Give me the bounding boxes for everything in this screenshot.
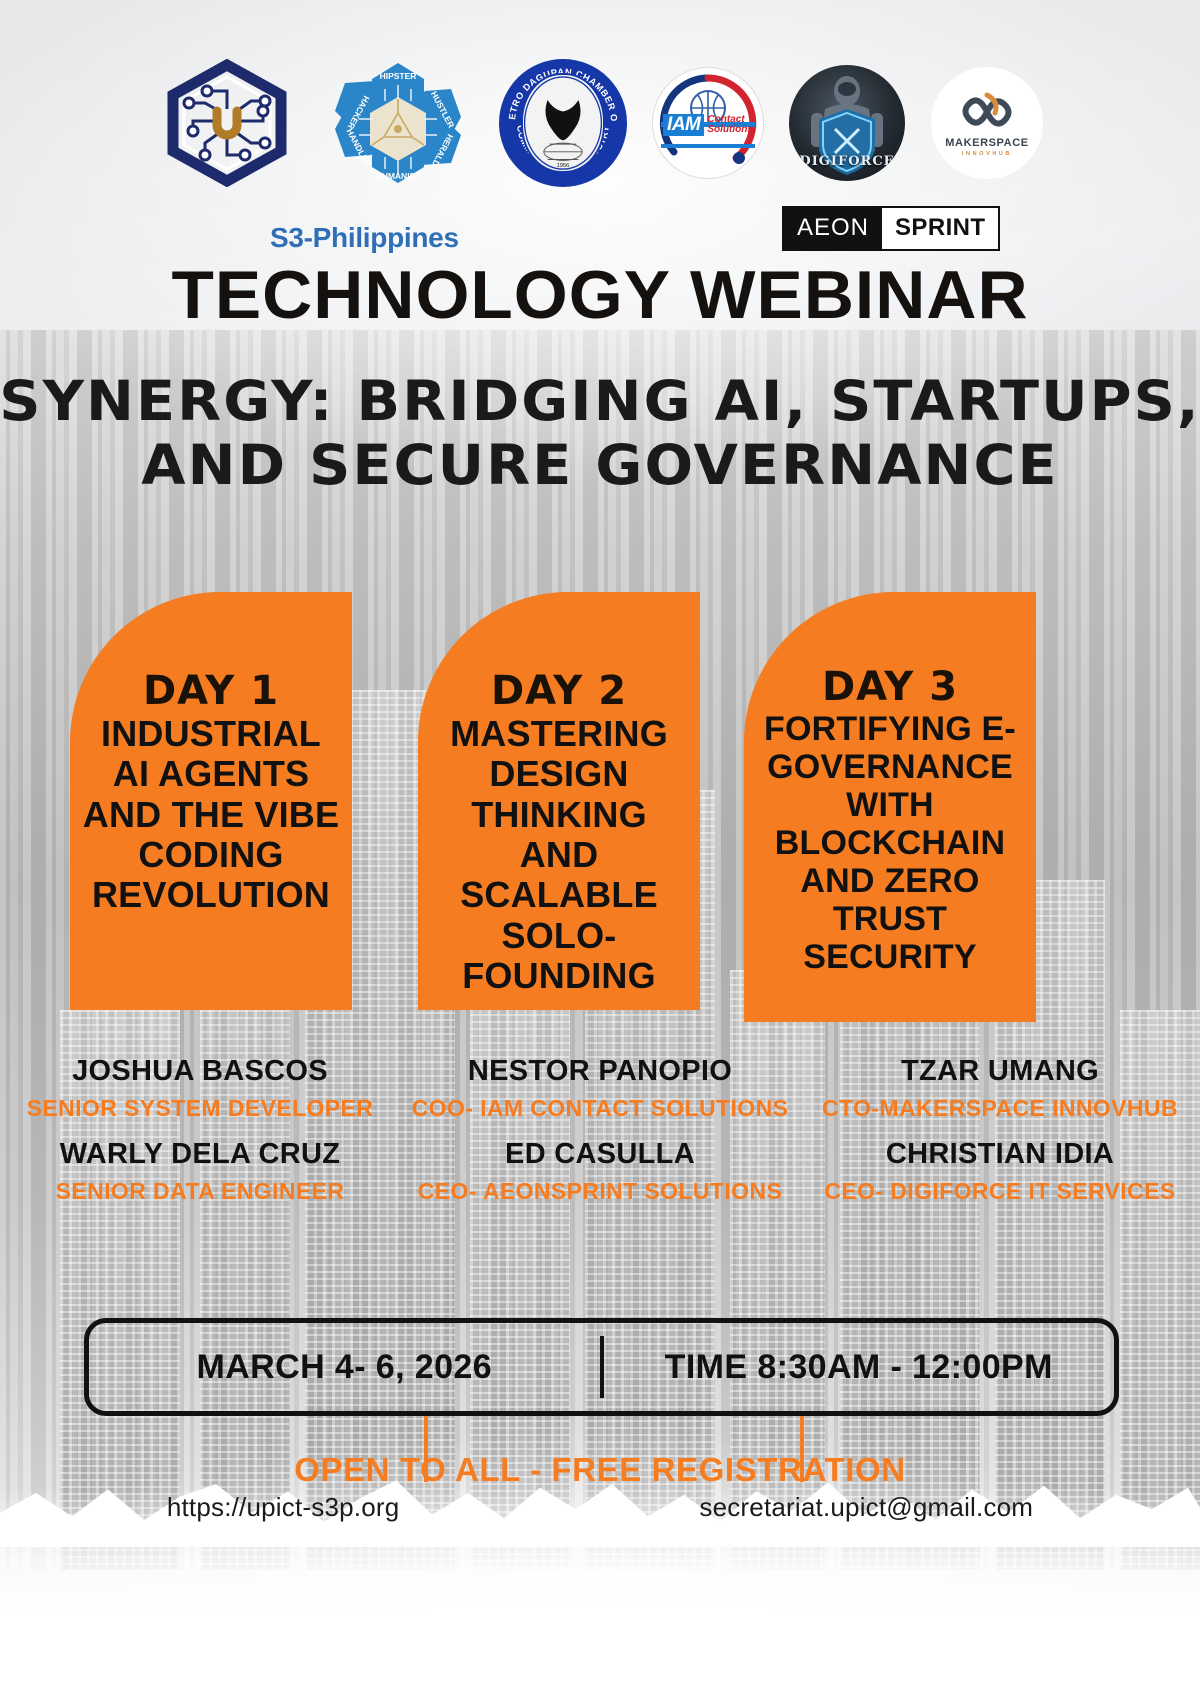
day-card-3-topic: FORTIFYING E-GOVERNANCE WITH BLOCKCHAIN … [756,710,1024,977]
footer-contact: https://upict-s3p.org secretariat.upict@… [0,1492,1200,1523]
speaker-name: ED CASULLA [410,1138,790,1171]
speaker-card: TZAR UMANG CTO-MAKERSPACE INNOVHUB [800,1055,1200,1122]
speaker-name: JOSHUA BASCOS [10,1055,390,1088]
poster-root: HIPSTER HUSTLER HERALD HUMANIST HANDLER … [0,0,1200,1697]
schedule-box: MARCH 4- 6, 2026 TIME 8:30AM - 12:00PM [84,1318,1119,1416]
day-card-3: DAY 3 FORTIFYING E-GOVERNANCE WITH BLOCK… [744,592,1036,1022]
iam-logo-line2: Solutions [707,125,753,136]
iam-logo-word: IAM [663,114,704,136]
schedule-date: MARCH 4- 6, 2026 [89,1348,600,1387]
day-card-2-label: DAY 2 [491,668,627,714]
speakers-row-1: JOSHUA BASCOS SENIOR SYSTEM DEVELOPER NE… [0,1055,1200,1122]
speaker-role: SENIOR SYSTEM DEVELOPER [10,1095,390,1122]
speaker-card: WARLY DELA CRUZ SENIOR DATA ENGINEER [0,1138,400,1205]
speaker-name: NESTOR PANOPIO [410,1055,790,1088]
speakers-row-2: WARLY DELA CRUZ SENIOR DATA ENGINEER ED … [0,1138,1200,1205]
email-link[interactable]: secretariat.upict@gmail.com [699,1492,1033,1523]
speaker-role: COO- IAM CONTACT SOLUTIONS [410,1095,790,1122]
day-card-2: DAY 2 MASTERING DESIGN THINKING AND SCAL… [418,592,700,1010]
speaker-role: CEO- DIGIFORCE IT SERVICES [810,1178,1190,1205]
speaker-card: CHRISTIAN IDIA CEO- DIGIFORCE IT SERVICE… [800,1138,1200,1205]
speaker-name: WARLY DELA CRUZ [10,1138,390,1171]
speakers-section: JOSHUA BASCOS SENIOR SYSTEM DEVELOPER NE… [0,1055,1200,1205]
website-link[interactable]: https://upict-s3p.org [167,1492,400,1523]
speaker-name: CHRISTIAN IDIA [810,1138,1190,1171]
day-card-2-topic: MASTERING DESIGN THINKING AND SCALABLE S… [430,714,688,996]
day-card-1-topic: INDUSTRIAL AI AGENTS AND THE VIBE CODING… [82,714,340,916]
speaker-card: JOSHUA BASCOS SENIOR SYSTEM DEVELOPER [0,1055,400,1122]
registration-note: OPEN TO ALL - FREE REGISTRATION [0,1451,1200,1489]
day-card-3-label: DAY 3 [822,664,958,710]
speaker-role: SENIOR DATA ENGINEER [10,1178,390,1205]
day-cards: DAY 1 INDUSTRIAL AI AGENTS AND THE VIBE … [0,0,1200,1697]
speaker-card: NESTOR PANOPIO COO- IAM CONTACT SOLUTION… [400,1055,800,1122]
speaker-role: CEO- AEONSPRINT SOLUTIONS [410,1178,790,1205]
speaker-role: CTO-MAKERSPACE INNOVHUB [810,1095,1190,1122]
day-card-1-label: DAY 1 [143,668,279,714]
schedule-time: TIME 8:30AM - 12:00PM [604,1348,1115,1387]
digiforce-logo-word: DIGIFORCE [799,154,894,169]
speaker-card: ED CASULLA CEO- AEONSPRINT SOLUTIONS [400,1138,800,1205]
speaker-name: TZAR UMANG [810,1055,1190,1088]
day-card-1: DAY 1 INDUSTRIAL AI AGENTS AND THE VIBE … [70,592,352,1010]
